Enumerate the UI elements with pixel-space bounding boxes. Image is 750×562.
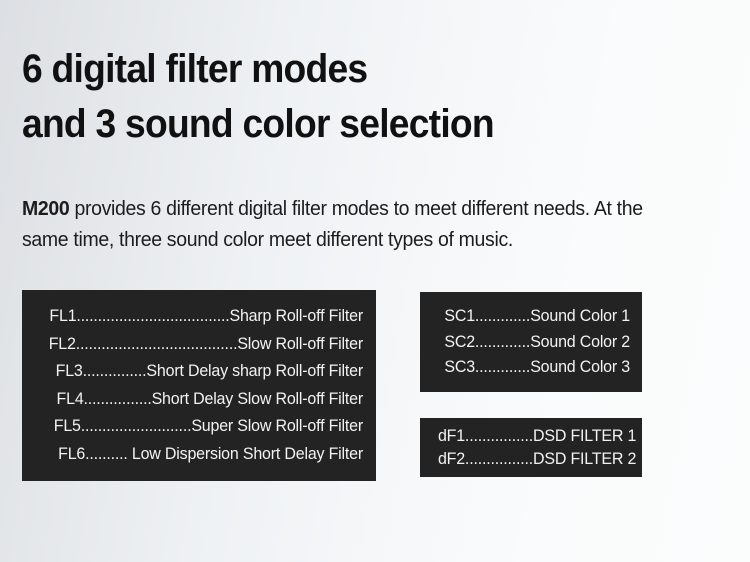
list-item: SC1.............Sound Color 1	[438, 304, 630, 330]
list-item: FL2.....................................…	[45, 331, 363, 359]
sound-color-list-panel: SC1.............Sound Color 1 SC2.......…	[420, 292, 642, 392]
description-paragraph: M200 provides 6 different digital filter…	[22, 193, 649, 255]
page-title-line-2: and 3 sound color selection	[22, 97, 673, 152]
list-item: SC3.............Sound Color 3	[438, 355, 630, 381]
list-item: FL5..........................Super Slow …	[45, 413, 363, 441]
list-item: FL6.......... Low Dispersion Short Delay…	[45, 441, 363, 469]
dsd-filter-list-panel: dF1................DSD FILTER 1 dF2.....…	[420, 418, 642, 477]
product-name: M200	[22, 197, 69, 220]
list-item: dF2................DSD FILTER 2	[438, 448, 630, 471]
description-text: provides 6 different digital filter mode…	[22, 197, 643, 251]
list-item: SC2.............Sound Color 2	[438, 330, 630, 356]
list-item: FL3...............Short Delay sharp Roll…	[45, 358, 363, 386]
list-item: dF1................DSD FILTER 1	[438, 425, 630, 448]
digital-filter-list-panel: FL1....................................S…	[22, 290, 376, 481]
page-title-line-1: 6 digital filter modes	[22, 42, 673, 97]
page-title: 6 digital filter modes and 3 sound color…	[22, 42, 673, 152]
slide-root: 6 digital filter modes and 3 sound color…	[0, 0, 750, 562]
list-item: FL1....................................S…	[45, 303, 363, 331]
list-item: FL4................Short Delay Slow Roll…	[45, 386, 363, 414]
